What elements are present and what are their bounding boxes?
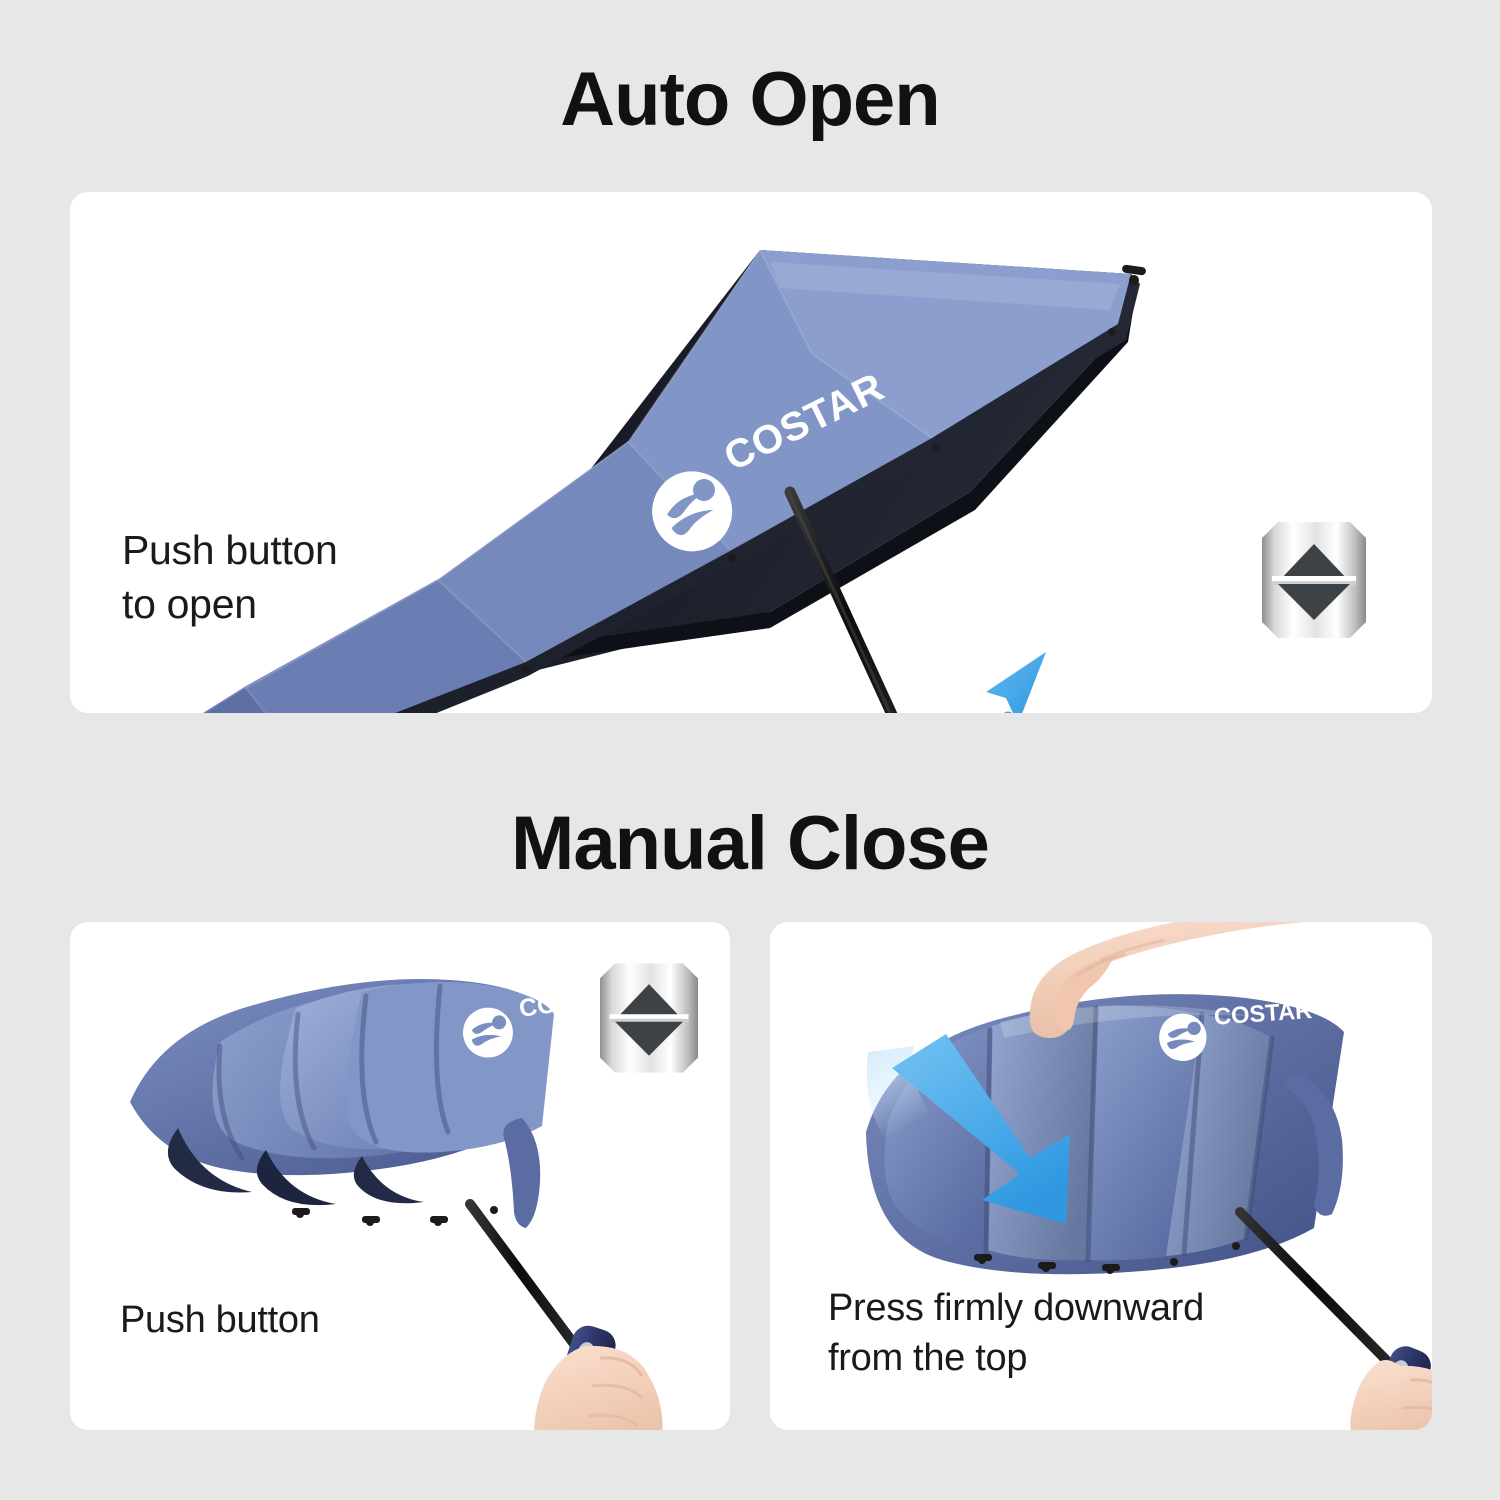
costar-wordmark: CO	[517, 990, 558, 1023]
caption-push-button-to-open: Push button to open	[122, 523, 338, 631]
panel-press-down: COSTAR	[770, 922, 1432, 1430]
instruction-graphic: Auto Open	[0, 0, 1500, 1500]
auto-open-illustration: COSTAR	[70, 192, 1432, 713]
panel-push-button: CO Push button	[70, 922, 730, 1430]
caption-press-firmly-downward: Press firmly downward from the top	[828, 1283, 1204, 1383]
caption-push-button: Push button	[120, 1295, 320, 1345]
hand-holding-handle	[534, 1346, 662, 1430]
panel-auto-open: COSTAR	[70, 192, 1432, 713]
pressed-canopy	[866, 994, 1344, 1274]
push-button-icon	[1262, 522, 1366, 638]
curved-arrow-up-right-icon	[969, 652, 1046, 713]
section-heading-auto-open: Auto Open	[0, 56, 1500, 143]
section-heading-manual-close: Manual Close	[0, 800, 1500, 887]
push-button-icon	[600, 963, 698, 1073]
hand-holding-handle	[1350, 1360, 1432, 1430]
